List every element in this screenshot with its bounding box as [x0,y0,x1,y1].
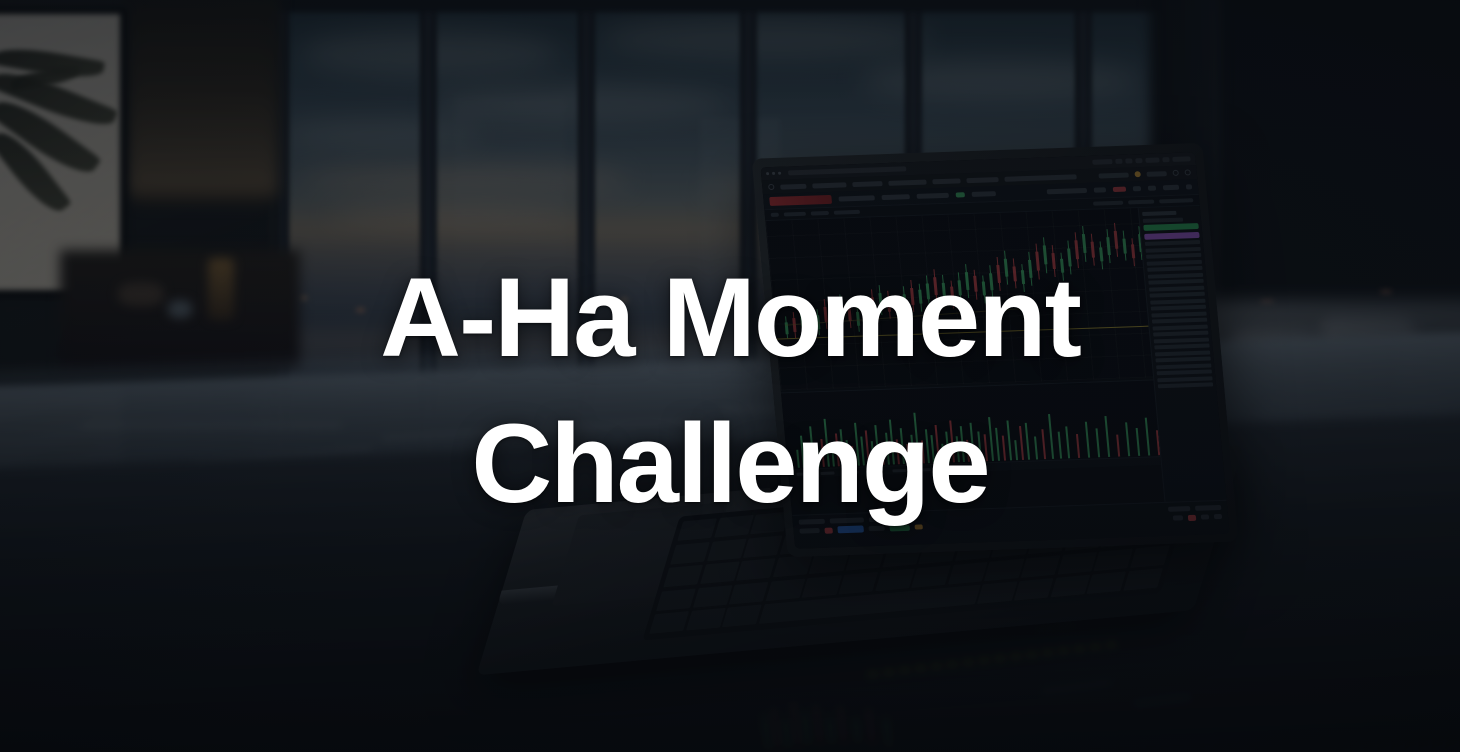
toolbar-item[interactable] [1047,188,1087,194]
keyboard-key[interactable] [1086,571,1126,595]
toolbar-item[interactable] [838,195,874,201]
keyboard-key[interactable] [1020,555,1060,579]
keyboard-key[interactable] [948,561,988,585]
watchlist-item-highlight[interactable] [1144,231,1200,239]
account-label[interactable] [1146,171,1166,177]
keyboard-key[interactable] [1093,548,1133,572]
headline-line-1: A-Ha Moment [0,263,1460,373]
toolbar-item[interactable] [1163,185,1179,191]
symbol-label[interactable] [784,212,806,217]
reflected-trendline [868,642,1117,675]
toolbar-item[interactable] [1094,187,1106,192]
candle-body [1099,247,1103,261]
candle-body [1091,242,1095,258]
keyboard-key[interactable] [743,535,783,559]
bookmark-item[interactable] [812,182,846,188]
market-status-label [1128,200,1154,205]
shield-icon[interactable] [768,184,775,190]
keyboard-key[interactable] [699,561,739,585]
reflected-candle [854,719,860,743]
price-up-badge [956,192,965,197]
toolbar-item[interactable] [972,191,996,197]
keyboard-key[interactable] [649,611,689,635]
watchlist-subheader [1143,217,1183,222]
keyboard-key[interactable] [977,581,1017,605]
avatar[interactable] [1134,171,1141,177]
keyboard-key[interactable] [765,578,805,602]
menu-icon[interactable] [1186,184,1192,189]
candle-body [1122,239,1126,254]
candle-body [1082,234,1087,253]
titlebar-clock [1172,156,1190,162]
keyboard-key[interactable] [706,538,746,562]
keyboard-key[interactable] [984,558,1024,582]
reflected-candle [783,719,789,747]
titlebar-icon[interactable] [1115,159,1122,164]
reflected-row [1042,681,1112,693]
share-icon[interactable] [1133,186,1141,191]
exchange-label [1093,201,1123,206]
sell-button[interactable] [824,527,833,533]
headline: A-Ha Moment Challenge [0,263,1460,519]
window-dot-icon[interactable] [766,172,769,175]
keyboard-key[interactable] [911,565,951,589]
bookmark-item[interactable] [966,177,998,183]
watchlist-item[interactable] [1146,253,1201,259]
watchlist-header [1142,211,1176,216]
toolbar-item[interactable] [917,193,949,199]
user-icon[interactable] [1148,186,1156,191]
interval-label[interactable] [811,211,829,216]
chart-icon[interactable] [771,213,779,217]
keyboard-key[interactable] [1130,545,1170,569]
keyboard-key[interactable] [722,605,762,629]
keyboard-key[interactable] [736,558,776,582]
bookmark-item[interactable] [852,181,882,187]
hero-banner: A-Ha Moment Challenge [0,0,1460,752]
reflected-candle [814,705,822,743]
reflected-candle [828,718,834,744]
order-qty-field[interactable] [868,526,884,532]
reflected-candle [838,706,845,742]
alert-banner[interactable] [769,195,832,206]
window-dot-icon[interactable] [772,172,775,175]
reflected-candle [763,716,770,750]
reflected-candle [867,709,874,743]
candle-body [1131,244,1135,258]
keyboard-key[interactable] [685,608,725,632]
keyboard-key[interactable] [875,568,915,592]
reflected-candle [884,719,890,747]
order-label [799,528,819,534]
window-dot-icon[interactable] [778,172,781,175]
cloud [280,120,480,146]
keyboard-key[interactable] [1123,568,1163,592]
toolbar-item[interactable] [881,194,909,200]
headset-icon[interactable] [1172,170,1179,176]
session-label [1159,198,1193,203]
reflected-row [1134,696,1190,706]
cloud [860,60,1140,100]
buy-button[interactable] [837,525,864,533]
keyboard-key[interactable] [802,575,842,599]
lamp-shade [128,0,278,204]
account-label[interactable] [1098,172,1128,178]
keyboard-key[interactable] [692,585,732,609]
titlebar-icon[interactable] [1162,157,1169,162]
titlebar-icon[interactable] [1135,158,1142,163]
record-badge [1113,187,1126,192]
cloud [600,18,930,58]
bookmark-item[interactable] [888,179,926,185]
reflected-candle [791,702,799,746]
bookmark-item[interactable] [932,178,960,184]
window-transom [255,0,1210,12]
keyboard-key[interactable] [1057,551,1097,575]
keyboard-key[interactable] [1013,578,1053,602]
watchlist-item[interactable] [1145,240,1200,246]
keyboard-key[interactable] [670,541,710,565]
titlebar-chip [1092,159,1112,165]
keyboard-key[interactable] [772,555,812,579]
bookmark-item[interactable] [1004,174,1077,181]
keyboard-key[interactable] [838,571,878,595]
keyboard-key[interactable] [656,588,696,612]
gear-icon[interactable] [1184,169,1191,175]
titlebar-icon[interactable] [1125,158,1132,163]
headline-line-2: Challenge [0,409,1460,519]
bookmark-item[interactable] [780,183,806,189]
indicator-label[interactable] [834,210,860,215]
titlebar-icon[interactable] [1145,157,1159,162]
keyboard-key[interactable] [1050,575,1090,599]
candle-body [1114,231,1119,249]
candle-body [1106,237,1111,255]
keyboard-key[interactable] [729,581,769,605]
keyboard-key[interactable] [663,565,703,589]
watchlist-item-active[interactable] [1143,223,1199,231]
watchlist-item[interactable] [1145,246,1200,252]
browser-tab[interactable] [788,166,907,175]
reflected-candle [803,713,810,745]
reflected-candle [772,709,780,749]
